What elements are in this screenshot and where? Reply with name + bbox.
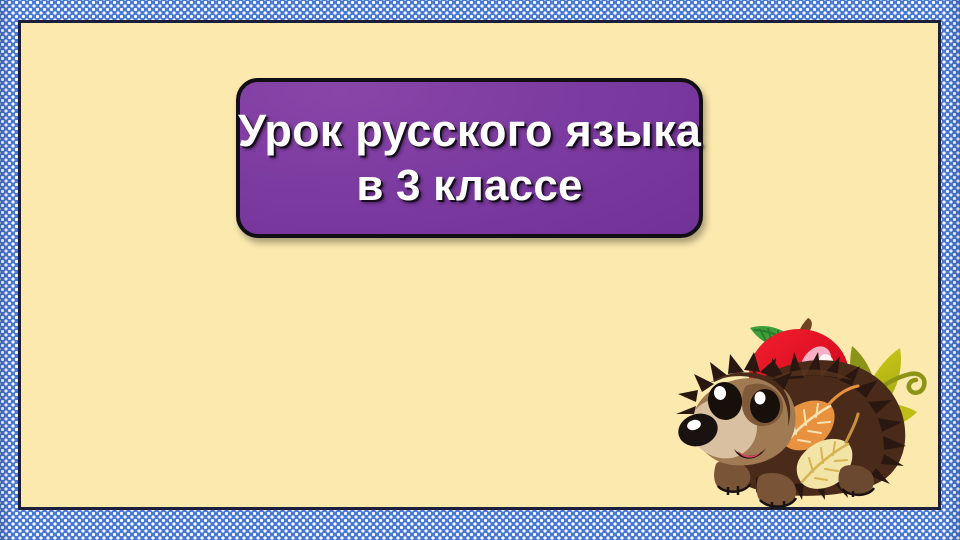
slide-root: Урок русского языка в 3 классе xyxy=(0,0,960,540)
title-line-1: Урок русского языка xyxy=(238,105,701,157)
hedgehog-illustration xyxy=(672,262,944,510)
title-line-2: в 3 классе xyxy=(356,160,582,211)
title-plaque: Урок русского языка в 3 классе xyxy=(236,78,703,238)
